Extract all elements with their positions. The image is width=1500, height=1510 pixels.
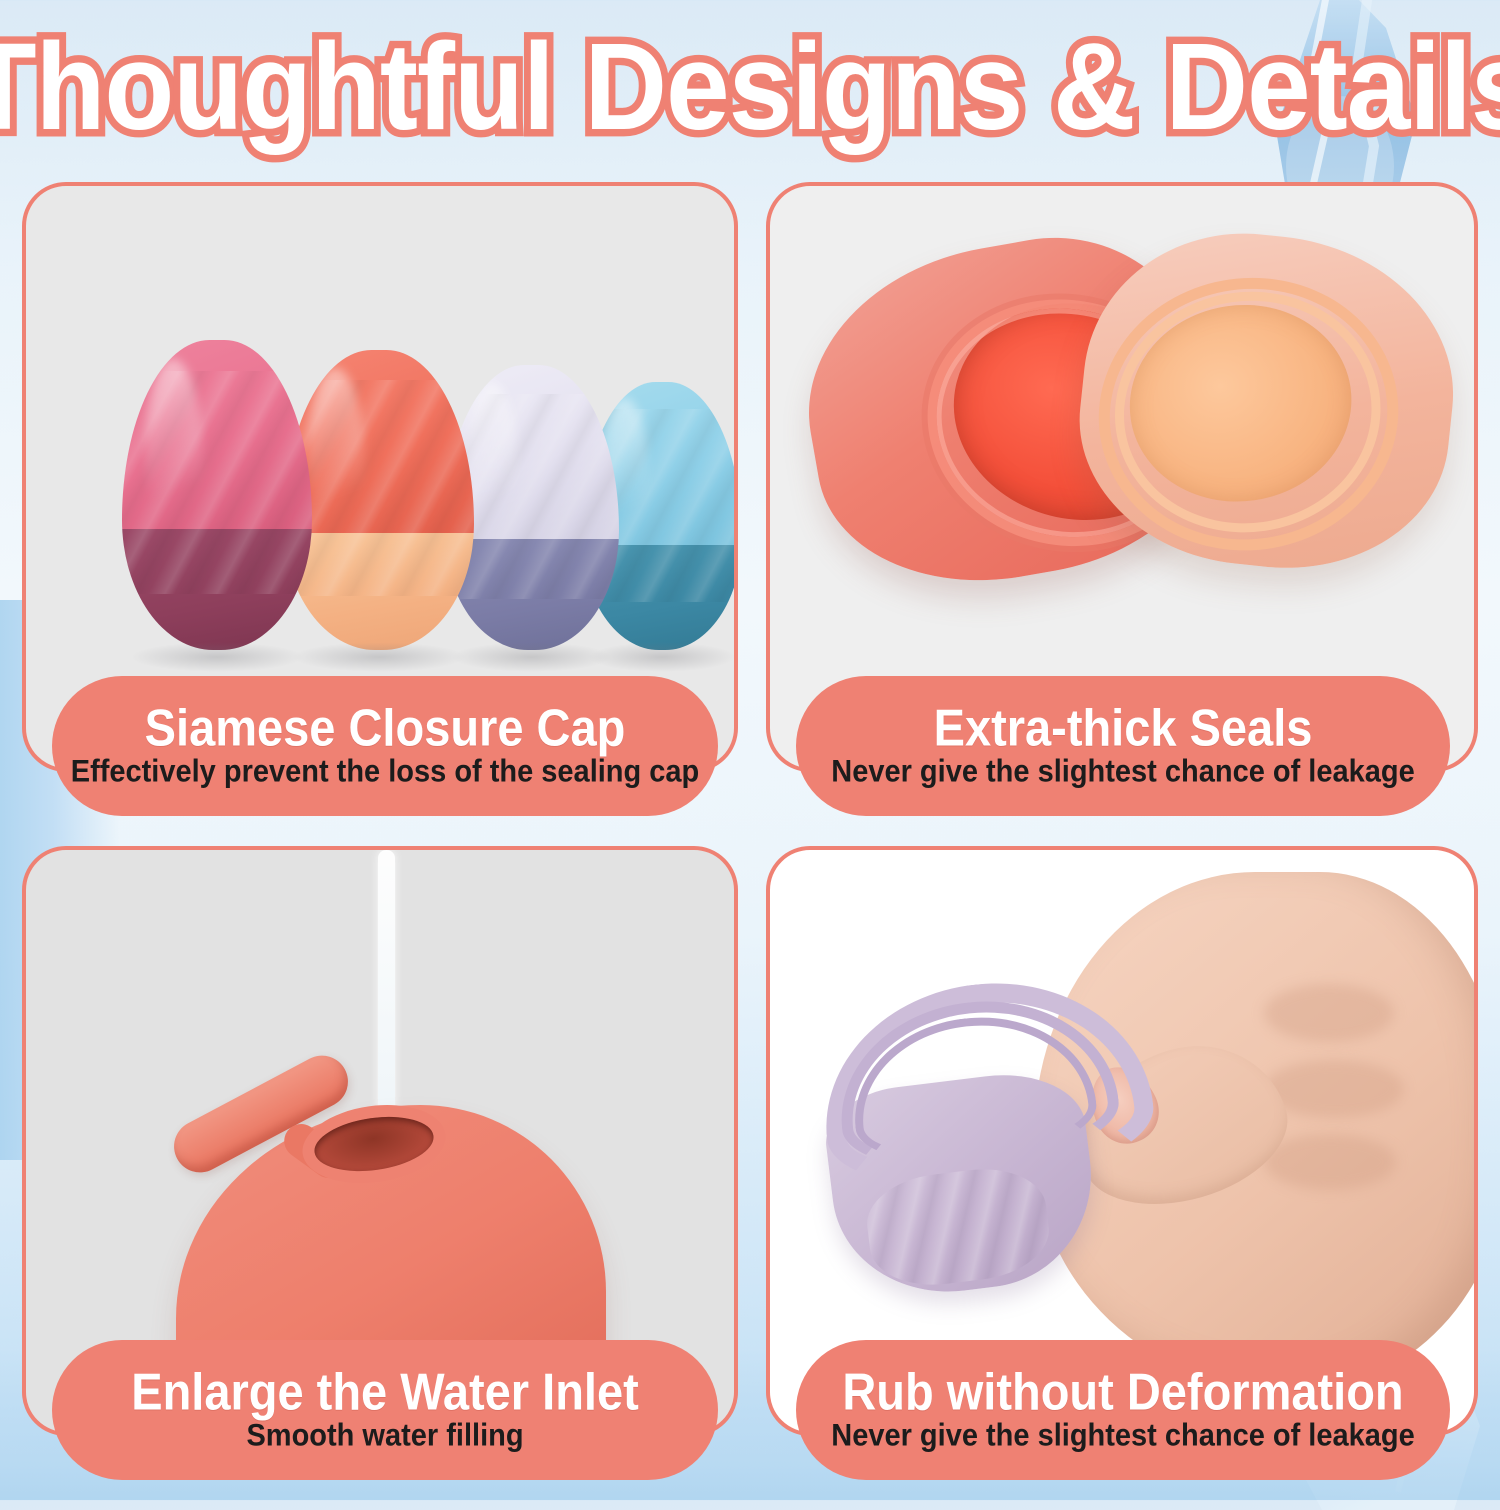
badge-title: Extra-thick Seals: [934, 702, 1313, 755]
badge-subtitle: Never give the slightest chance of leaka…: [831, 1420, 1414, 1453]
badge-subtitle: Effectively prevent the loss of the seal…: [71, 756, 700, 789]
badge-enlarge-water-inlet: Enlarge the Water Inlet Smooth water fil…: [52, 1340, 718, 1480]
bottle-pink: [122, 340, 312, 650]
page-title: Thoughtful Designs & Details: [0, 22, 1500, 152]
badge-subtitle: Never give the slightest chance of leaka…: [831, 756, 1414, 789]
badge-title: Rub without Deformation: [842, 1366, 1403, 1419]
badge-subtitle: Smooth water filling: [246, 1420, 523, 1453]
badge-title: Siamese Closure Cap: [145, 702, 626, 755]
page-title-text: Thoughtful Designs & Details: [0, 25, 1500, 148]
bottle-coral: [284, 350, 474, 650]
badge-title: Enlarge the Water Inlet: [131, 1366, 639, 1419]
badge-rub-without-deformation: Rub without Deformation Never give the s…: [796, 1340, 1450, 1480]
badge-siamese-closure-cap: Siamese Closure Cap Effectively prevent …: [52, 676, 718, 816]
folded-bottle-lavender: [822, 962, 1152, 1292]
badge-extra-thick-seals: Extra-thick Seals Never give the slighte…: [796, 676, 1450, 816]
peach-bottle-mouth: [1066, 218, 1468, 585]
water-stream: [378, 850, 395, 1140]
